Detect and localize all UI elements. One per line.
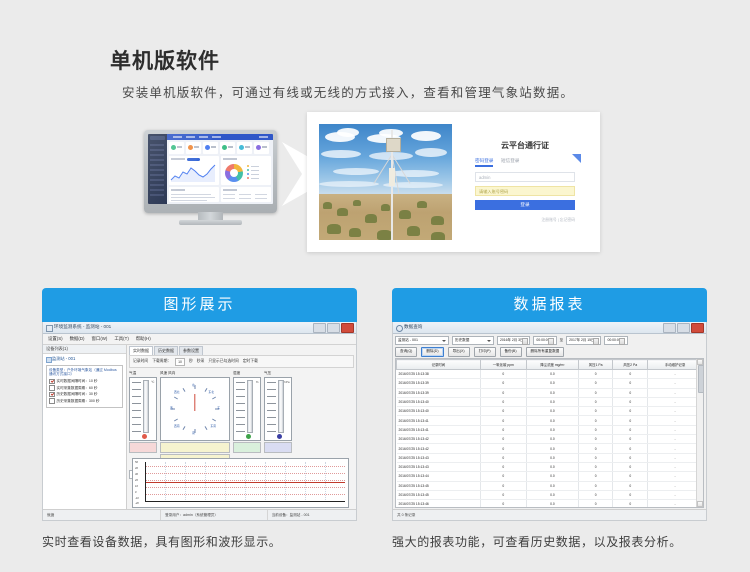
gauge-unit: % bbox=[256, 380, 259, 384]
donut-chart bbox=[225, 164, 243, 182]
table-cell: 2016/07/25 15:13:45 bbox=[397, 490, 481, 499]
hero-illustration: 云平台通行证 密码登录 短信登录 admin 请输入账号密码 登录 注册账号 |… bbox=[130, 112, 600, 252]
table-cell: 0.0 bbox=[526, 407, 578, 416]
card-heading-bar bbox=[171, 189, 185, 191]
thermometer-humidity: % bbox=[233, 377, 261, 441]
table-cell: 0 bbox=[613, 388, 648, 397]
y-tick: -20 bbox=[135, 502, 139, 505]
table-cell: 0 bbox=[578, 472, 613, 481]
sidebar-line bbox=[150, 174, 164, 176]
table-card bbox=[221, 187, 271, 202]
gauge-label: 气温 bbox=[129, 371, 157, 376]
table-cell: 2016/07/25 15:13:44 bbox=[397, 472, 481, 481]
table-cell: 0 bbox=[578, 453, 613, 462]
table-cell: 0 bbox=[480, 453, 526, 462]
table-cell: - bbox=[648, 407, 703, 416]
table-cell: - bbox=[648, 379, 703, 388]
dashboard-preview bbox=[148, 134, 273, 204]
card-heading-bar bbox=[223, 189, 237, 191]
table-row[interactable]: 2016/07/25 15:13:4200.000- bbox=[397, 435, 703, 444]
thermometer-pressure: hPa bbox=[264, 377, 292, 441]
table-cell: 2016/07/25 15:13:40 bbox=[397, 407, 481, 416]
sidebar-line bbox=[150, 169, 164, 171]
menu-settings[interactable]: 设置(S) bbox=[48, 336, 63, 342]
close-button[interactable] bbox=[341, 323, 354, 333]
table-cell: 0 bbox=[613, 490, 648, 499]
menu-data[interactable]: 数据(D) bbox=[70, 336, 85, 342]
wind-rose-dial: 北 东 南 西 东北 东南 西南 西北 bbox=[160, 377, 230, 441]
table-cell: - bbox=[648, 444, 703, 453]
table-cell: 2016/07/25 15:13:42 bbox=[397, 444, 481, 453]
record-count: 共 0 条记录 bbox=[393, 510, 706, 520]
table-cell: 0 bbox=[480, 397, 526, 406]
table-cell: 2016/07/25 15:13:41 bbox=[397, 425, 481, 434]
date-to-picker[interactable]: 2017年 2月 15日 bbox=[566, 336, 601, 345]
caption-graphics: 实时查看设备数据，具有图形和波形显示。 bbox=[42, 534, 362, 551]
caption-report: 强大的报表功能，可查看历史数据，以及报表分析。 bbox=[392, 534, 692, 551]
table-cell: 0 bbox=[613, 444, 648, 453]
gauge-bulb bbox=[277, 434, 282, 439]
card-heading-graphics: 图形展示 bbox=[42, 288, 357, 322]
thermometer-temperature: ℃ bbox=[129, 377, 157, 441]
table-cell: 0.0 bbox=[526, 435, 578, 444]
report-statusbar: 共 0 条记录 bbox=[393, 509, 706, 520]
chart-toggle-pill bbox=[187, 158, 200, 161]
table-cell: 0 bbox=[613, 407, 648, 416]
realtime-toolbar: 记录时间 下载周期： 10 秒 秒采 只显示已勾选时间 定时下载 bbox=[129, 355, 354, 368]
close-button[interactable] bbox=[691, 323, 704, 333]
option-history-interval[interactable]: 历史数据间隔时间：30 秒 bbox=[49, 392, 120, 398]
gauge-unit: hPa bbox=[284, 380, 289, 384]
gauge-scale bbox=[267, 380, 277, 436]
table-cell: 0.0 bbox=[526, 425, 578, 434]
gauge-readout bbox=[264, 442, 292, 453]
table-cell: 0 bbox=[578, 500, 613, 508]
table-header-row: 记录时间 一氧化碳 ppm 降尘浓度 mg/m³ 风压1 Pa 风压2 Pa 手… bbox=[397, 360, 703, 370]
table-cell: - bbox=[648, 397, 703, 406]
table-cell: 0.0 bbox=[526, 444, 578, 453]
table-cell: 0 bbox=[480, 490, 526, 499]
checkbox-icon[interactable] bbox=[49, 398, 55, 404]
gauge-tube bbox=[278, 380, 284, 433]
col-pressure1[interactable]: 风压1 Pa bbox=[578, 360, 613, 370]
table-cell: 0 bbox=[578, 397, 613, 406]
line-chart bbox=[170, 163, 218, 183]
table-row[interactable]: 2016/07/25 15:13:4000.000- bbox=[397, 407, 703, 416]
gauge-tube bbox=[247, 380, 253, 433]
table-row[interactable]: 2016/07/25 15:13:4300.000- bbox=[397, 453, 703, 462]
y-tick: 30 bbox=[135, 473, 138, 476]
report-table-body: 2016/07/25 15:13:3800.000-2016/07/25 15:… bbox=[397, 370, 703, 509]
waveform-plot bbox=[145, 462, 345, 502]
window-titlebar: 环境监测系统 - 监测站 - 001 bbox=[43, 322, 356, 334]
table-cell: 0 bbox=[578, 388, 613, 397]
table-cell: - bbox=[648, 370, 703, 379]
ground bbox=[319, 194, 452, 240]
gauge-label: 气压 bbox=[264, 371, 292, 376]
checkbox-icon[interactable] bbox=[49, 392, 55, 398]
date-from-picker[interactable]: 2016年 2月 3日 bbox=[497, 336, 530, 345]
window-title: 环境监测系统 - 监测站 - 001 bbox=[54, 324, 111, 330]
table-cell: 2016/07/25 15:13:39 bbox=[397, 379, 481, 388]
device-list-header: 设备列表(1) bbox=[43, 345, 126, 354]
table-cell: - bbox=[648, 435, 703, 444]
table-cell: 0 bbox=[613, 425, 648, 434]
rose-label-nw: 西北 bbox=[174, 390, 180, 394]
table-cell: - bbox=[648, 425, 703, 434]
table-cell: 0.0 bbox=[526, 500, 578, 508]
dashboard-body bbox=[167, 140, 273, 204]
kpi-card bbox=[186, 142, 201, 154]
table-cell: 0 bbox=[480, 416, 526, 425]
station-select[interactable]: 监测站 - 001 bbox=[395, 336, 449, 345]
tab-history-data[interactable]: 历史数据 bbox=[154, 346, 178, 355]
field-photo bbox=[319, 124, 452, 240]
desktop-monitor bbox=[144, 130, 277, 222]
statusbar: 就绪 登录用户：admin（系统管理员） 当前设备：监测站 - 001 bbox=[43, 509, 356, 520]
y-tick: 20 bbox=[135, 479, 138, 482]
tab-sms-login[interactable]: 短信登录 bbox=[501, 158, 519, 164]
minimize-button[interactable] bbox=[663, 323, 676, 333]
topbar-item bbox=[186, 136, 195, 138]
table-cell: 0 bbox=[613, 453, 648, 462]
delete-duplicates-button[interactable]: 删除所有重复数据 bbox=[526, 347, 565, 357]
table-cell: - bbox=[648, 500, 703, 508]
table-cell: 0.0 bbox=[526, 490, 578, 499]
table-cell: 0 bbox=[578, 425, 613, 434]
table-cell: 0 bbox=[578, 481, 613, 490]
sidebar-line bbox=[150, 184, 164, 186]
topbar-item bbox=[173, 136, 182, 138]
table-cell: 0 bbox=[578, 462, 613, 471]
gauge-readout bbox=[233, 442, 261, 453]
table-cell: 0 bbox=[578, 490, 613, 499]
backup-button[interactable]: 备份(B) bbox=[500, 347, 522, 357]
gauge-humidity: 湿度 % bbox=[233, 371, 261, 453]
gauge-scale bbox=[236, 380, 246, 436]
table-row[interactable]: 2016/07/25 15:13:4500.000- bbox=[397, 490, 703, 499]
table-cell: 0.0 bbox=[526, 397, 578, 406]
col-dust[interactable]: 降尘浓度 mg/m³ bbox=[526, 360, 578, 370]
report-app-window: 数据查询 监测站 - 001 历史数据 2016年 2月 3日 00:00:00… bbox=[393, 322, 706, 520]
table-cell: 0 bbox=[578, 379, 613, 388]
table-cell: - bbox=[648, 388, 703, 397]
table-cell: 0 bbox=[480, 435, 526, 444]
range-to-label: 至 bbox=[560, 338, 564, 343]
waveform-series bbox=[145, 482, 345, 483]
table-cell: 2016/07/25 15:13:40 bbox=[397, 397, 481, 406]
kpi-card bbox=[254, 142, 269, 154]
col-record-time[interactable]: 记录时间 bbox=[397, 360, 481, 370]
sidebar-line bbox=[150, 194, 164, 196]
table-cell: 0.0 bbox=[526, 416, 578, 425]
table-cell: 0.0 bbox=[526, 472, 578, 481]
kpi-card bbox=[169, 142, 184, 154]
card-body-report: 数据查询 监测站 - 001 历史数据 2016年 2月 3日 00:00:00… bbox=[392, 322, 707, 521]
table-row[interactable]: 2016/07/25 15:13:4100.000- bbox=[397, 425, 703, 434]
monitor-screen bbox=[148, 134, 273, 204]
menu-window[interactable]: 窗口(W) bbox=[92, 336, 108, 342]
rose-label-se: 东南 bbox=[210, 424, 216, 428]
topbar-user bbox=[259, 136, 268, 138]
report-table-frame: 记录时间 一氧化碳 ppm 降尘浓度 mg/m³ 风压1 Pa 风压2 Pa 手… bbox=[395, 358, 704, 508]
gauge-readout bbox=[129, 442, 157, 453]
window-controls bbox=[663, 323, 704, 333]
col-pressure2[interactable]: 风压2 Pa bbox=[613, 360, 648, 370]
sidebar-line bbox=[150, 179, 164, 181]
menu-help[interactable]: 帮助(H) bbox=[136, 336, 151, 342]
time-from-picker[interactable]: 00:00:00 bbox=[533, 336, 556, 345]
monitoring-app-window: 环境监测系统 - 监测站 - 001 设置(S) 数据(D) 窗口(W) 工具(… bbox=[43, 322, 356, 520]
interval-input[interactable]: 10 bbox=[175, 358, 185, 366]
report-table: 记录时间 一氧化碳 ppm 降尘浓度 mg/m³ 风压1 Pa 风压2 Pa 手… bbox=[396, 359, 703, 508]
table-cell: 2016/07/25 15:13:38 bbox=[397, 370, 481, 379]
waveform-y-axis-line bbox=[145, 462, 146, 502]
table-cell: - bbox=[648, 481, 703, 490]
col-manual-note[interactable]: 手动维护记录 bbox=[648, 360, 703, 370]
username-field[interactable]: admin bbox=[475, 172, 575, 182]
line-chart-card bbox=[169, 156, 219, 185]
checkbox-show-selected[interactable]: 只显示已勾选时间 bbox=[208, 359, 238, 364]
interval-unit: 秒 bbox=[189, 359, 193, 364]
table-cell: 0.0 bbox=[526, 388, 578, 397]
waveform-x-axis bbox=[145, 501, 345, 502]
table-cell: 0 bbox=[480, 481, 526, 490]
gauge-temperature: 气温 ℃ bbox=[129, 371, 157, 453]
table-cell: - bbox=[648, 416, 703, 425]
gauge-scale bbox=[132, 380, 142, 436]
table-row[interactable]: 2016/07/25 15:13:3900.000- bbox=[397, 379, 703, 388]
gauge-bulb bbox=[246, 434, 251, 439]
table-cell: 0 bbox=[578, 444, 613, 453]
donut-chart-card bbox=[221, 156, 271, 185]
y-tick: 40 bbox=[135, 467, 138, 470]
datatype-select[interactable]: 历史数据 bbox=[452, 336, 494, 345]
time-to-picker[interactable]: 00:00:00 bbox=[604, 336, 627, 345]
tab-parameter-settings[interactable]: 参数设置 bbox=[179, 346, 203, 355]
table-cell: 0 bbox=[578, 370, 613, 379]
table-row[interactable]: 2016/07/25 15:13:4200.000- bbox=[397, 444, 703, 453]
table-cell: - bbox=[648, 472, 703, 481]
table-cell: 0 bbox=[613, 462, 648, 471]
table-cell: 0 bbox=[578, 407, 613, 416]
report-toolbar: 监测站 - 001 历史数据 2016年 2月 3日 00:00:00 至 20… bbox=[393, 334, 706, 359]
sidebar-line bbox=[150, 164, 164, 166]
login-tabs: 密码登录 短信登录 bbox=[475, 158, 575, 168]
tree-node-station[interactable]: 监测站 - 001 bbox=[43, 354, 126, 363]
status-user: 登录用户：admin（系统管理员） bbox=[161, 510, 268, 520]
table-cell: 0 bbox=[613, 481, 648, 490]
table-cell: 0 bbox=[613, 379, 648, 388]
search-icon bbox=[396, 325, 403, 332]
password-field[interactable]: 请输入账号密码 bbox=[475, 186, 575, 196]
checkbox-icon[interactable] bbox=[49, 385, 55, 391]
report-filter-row: 监测站 - 001 历史数据 2016年 2月 3日 00:00:00 至 20… bbox=[395, 336, 704, 345]
table-row[interactable]: 2016/07/25 15:13:4300.000- bbox=[397, 462, 703, 471]
tab-password-login[interactable]: 密码登录 bbox=[475, 158, 493, 164]
dashboard-logo bbox=[150, 136, 165, 140]
rose-face: 北 东 南 西 东北 东南 西南 西北 bbox=[168, 382, 222, 436]
col-co[interactable]: 一氧化碳 ppm bbox=[480, 360, 526, 370]
app-icon bbox=[46, 325, 53, 332]
interval-label: 下载周期： bbox=[152, 359, 171, 364]
table-row[interactable]: 2016/07/25 15:13:3800.000- bbox=[397, 370, 703, 379]
table-cell: 0 bbox=[480, 370, 526, 379]
table-cell: 0 bbox=[613, 397, 648, 406]
table-cell: 2016/07/25 15:13:39 bbox=[397, 388, 481, 397]
table-cell: 0 bbox=[613, 435, 648, 444]
tab-realtime-data[interactable]: 实时数据 bbox=[129, 346, 153, 355]
topbar-item bbox=[199, 136, 208, 138]
waveform-y-axis: 50 40 30 20 10 0 -10 -20 bbox=[135, 461, 144, 505]
rose-label-s: 南 bbox=[192, 431, 195, 435]
device-options-box: 设备类型：户外环境气象站（通过 Modbus 通讯方式接口） 实时数据间隔时间：… bbox=[46, 365, 123, 408]
report-window-title: 数据查询 bbox=[404, 324, 422, 330]
sidebar-line bbox=[150, 159, 164, 161]
login-panel: 云平台通行证 密码登录 短信登录 admin 请输入账号密码 登录 注册账号 |… bbox=[465, 126, 585, 238]
table-cell: 0 bbox=[613, 472, 648, 481]
delete-button[interactable]: 删除(D) bbox=[421, 347, 443, 357]
sidebar-line bbox=[150, 149, 164, 151]
table-cell: 0.0 bbox=[526, 481, 578, 490]
table-scrollbar[interactable] bbox=[696, 359, 703, 507]
sky bbox=[319, 124, 452, 196]
login-submit-button[interactable]: 登录 bbox=[475, 200, 575, 210]
table-cell: 0 bbox=[480, 444, 526, 453]
gauge-wind: 风速 风向 bbox=[160, 371, 230, 465]
table-cell: 0.0 bbox=[526, 370, 578, 379]
gauge-pressure: 气压 hPa bbox=[264, 371, 292, 453]
table-cell: 0 bbox=[480, 388, 526, 397]
table-row[interactable]: 2016/07/25 15:13:4600.000- bbox=[397, 500, 703, 508]
page-title: 单机版软件 bbox=[110, 45, 220, 75]
table-cell: - bbox=[648, 462, 703, 471]
table-cell: 2016/07/25 15:13:43 bbox=[397, 453, 481, 462]
y-tick: 0 bbox=[135, 491, 136, 494]
gauge-label: 湿度 bbox=[233, 371, 261, 376]
table-cell: - bbox=[648, 490, 703, 499]
table-cell: 0 bbox=[613, 416, 648, 425]
step-label: 秒采 bbox=[197, 359, 205, 364]
gauge-row: 气温 ℃ bbox=[127, 368, 356, 468]
list-card bbox=[169, 187, 219, 202]
table-cell: 0.0 bbox=[526, 453, 578, 462]
maximize-button[interactable] bbox=[677, 323, 690, 333]
table-cell: 0 bbox=[480, 379, 526, 388]
table-cell: 0 bbox=[613, 500, 648, 508]
device-tree-panel: 设备列表(1) 监测站 - 001 设备类型：户外环境气象站（通过 Modbus… bbox=[43, 345, 127, 521]
table-cell: 0.0 bbox=[526, 379, 578, 388]
print-button[interactable]: 打印(P) bbox=[474, 347, 496, 357]
table-row[interactable]: 2016/07/25 15:13:4000.000- bbox=[397, 397, 703, 406]
topbar-item bbox=[212, 136, 221, 138]
login-footer-links[interactable]: 注册账号 | 忘记密码 bbox=[542, 218, 575, 223]
scroll-thumb[interactable] bbox=[698, 365, 704, 393]
kpi-card bbox=[237, 142, 252, 154]
rose-label-n: 北 bbox=[192, 383, 195, 387]
y-tick: -10 bbox=[135, 497, 139, 500]
kpi-card bbox=[220, 142, 235, 154]
maximize-button[interactable] bbox=[327, 323, 340, 333]
sidebar-line bbox=[150, 154, 164, 156]
report-titlebar: 数据查询 bbox=[393, 322, 706, 334]
wind-direction-needle bbox=[194, 394, 195, 411]
scroll-down-button[interactable] bbox=[697, 501, 703, 507]
table-cell: 0.0 bbox=[526, 462, 578, 471]
card-heading-bar bbox=[223, 158, 237, 160]
table-cell: 2016/07/25 15:13:41 bbox=[397, 416, 481, 425]
option-realtime-cycle[interactable]: 实时采集数据周期：60 秒 bbox=[49, 385, 120, 391]
table-cell: 2016/07/25 15:13:42 bbox=[397, 435, 481, 444]
window-controls bbox=[313, 323, 354, 333]
table-cell: 0 bbox=[480, 500, 526, 508]
gauge-tube bbox=[143, 380, 149, 433]
gauge-bulb bbox=[142, 434, 147, 439]
checkbox-scheduled-download[interactable]: 定时下载 bbox=[243, 359, 258, 364]
card-heading-bar bbox=[171, 158, 185, 160]
page-subtitle: 安装单机版软件，可通过有线或无线的方式接入，查看和管理气象站数据。 bbox=[122, 82, 574, 101]
device-note: 设备类型：户外环境气象站（通过 Modbus 通讯方式接口） bbox=[49, 368, 120, 377]
y-tick: 10 bbox=[135, 485, 138, 488]
option-realtime-interval[interactable]: 实时数据间隔时间：10 秒 bbox=[49, 379, 120, 385]
table-cell: 0 bbox=[480, 462, 526, 471]
table-row[interactable]: 2016/07/25 15:13:4500.000- bbox=[397, 481, 703, 490]
query-button[interactable]: 查询(Q) bbox=[395, 347, 417, 357]
status-ready: 就绪 bbox=[43, 510, 161, 520]
y-tick: 50 bbox=[135, 461, 138, 464]
table-cell: 0 bbox=[480, 407, 526, 416]
login-title: 云平台通行证 bbox=[465, 140, 585, 151]
rose-label-sw: 西南 bbox=[174, 424, 180, 428]
card-graphics-display: 图形展示 环境监测系统 - 监测站 - 001 设置(S) 数据(D) 窗口(W… bbox=[42, 288, 357, 521]
status-device: 当前设备：监测站 - 001 bbox=[268, 510, 356, 520]
table-cell: 0 bbox=[480, 425, 526, 434]
dashboard-sidebar bbox=[148, 134, 167, 204]
sidebar-line bbox=[150, 144, 164, 146]
gauge-readout bbox=[160, 442, 230, 453]
menubar: 设置(S) 数据(D) 窗口(W) 工具(T) 帮助(H) bbox=[43, 334, 356, 345]
card-heading-report: 数据报表 bbox=[392, 288, 707, 322]
rose-label-ne: 东北 bbox=[208, 390, 214, 394]
table-cell: 2016/07/25 15:13:46 bbox=[397, 500, 481, 508]
kpi-card bbox=[203, 142, 218, 154]
table-cell: 2016/07/25 15:13:45 bbox=[397, 481, 481, 490]
sensor-housing-icon bbox=[386, 138, 401, 152]
card-body-graphics: 环境监测系统 - 监测站 - 001 设置(S) 数据(D) 窗口(W) 工具(… bbox=[42, 322, 357, 521]
menu-tools[interactable]: 工具(T) bbox=[114, 336, 128, 342]
table-row[interactable]: 2016/07/25 15:13:4100.000- bbox=[397, 416, 703, 425]
kpi-row bbox=[169, 142, 271, 154]
gauge-label: 风速 风向 bbox=[160, 371, 230, 376]
table-row[interactable]: 2016/07/25 15:13:4400.000- bbox=[397, 472, 703, 481]
option-history-cycle[interactable]: 历史采集数据周期：300 秒 bbox=[49, 398, 120, 404]
table-row[interactable]: 2016/07/25 15:13:3900.000- bbox=[397, 388, 703, 397]
sidebar-line bbox=[150, 189, 164, 191]
table-cell: 0 bbox=[578, 416, 613, 425]
waveform-chart: 50 40 30 20 10 0 -10 -20 bbox=[132, 458, 349, 508]
rose-label-w: 西 bbox=[170, 406, 173, 410]
page-root: 单机版软件 安装单机版软件，可通过有线或无线的方式接入，查看和管理气象站数据。 bbox=[0, 0, 750, 572]
gauge-unit: ℃ bbox=[151, 380, 154, 384]
table-cell: 0 bbox=[578, 435, 613, 444]
monitor-base bbox=[179, 220, 242, 225]
checkbox-icon[interactable] bbox=[49, 379, 55, 385]
table-cell: 2016/07/25 15:13:43 bbox=[397, 462, 481, 471]
radiation-shield-icon bbox=[389, 168, 395, 186]
data-tabs: 实时数据 历史数据 参数设置 bbox=[127, 345, 356, 355]
minimize-button[interactable] bbox=[313, 323, 326, 333]
export-button[interactable]: 导出(X) bbox=[448, 347, 470, 357]
